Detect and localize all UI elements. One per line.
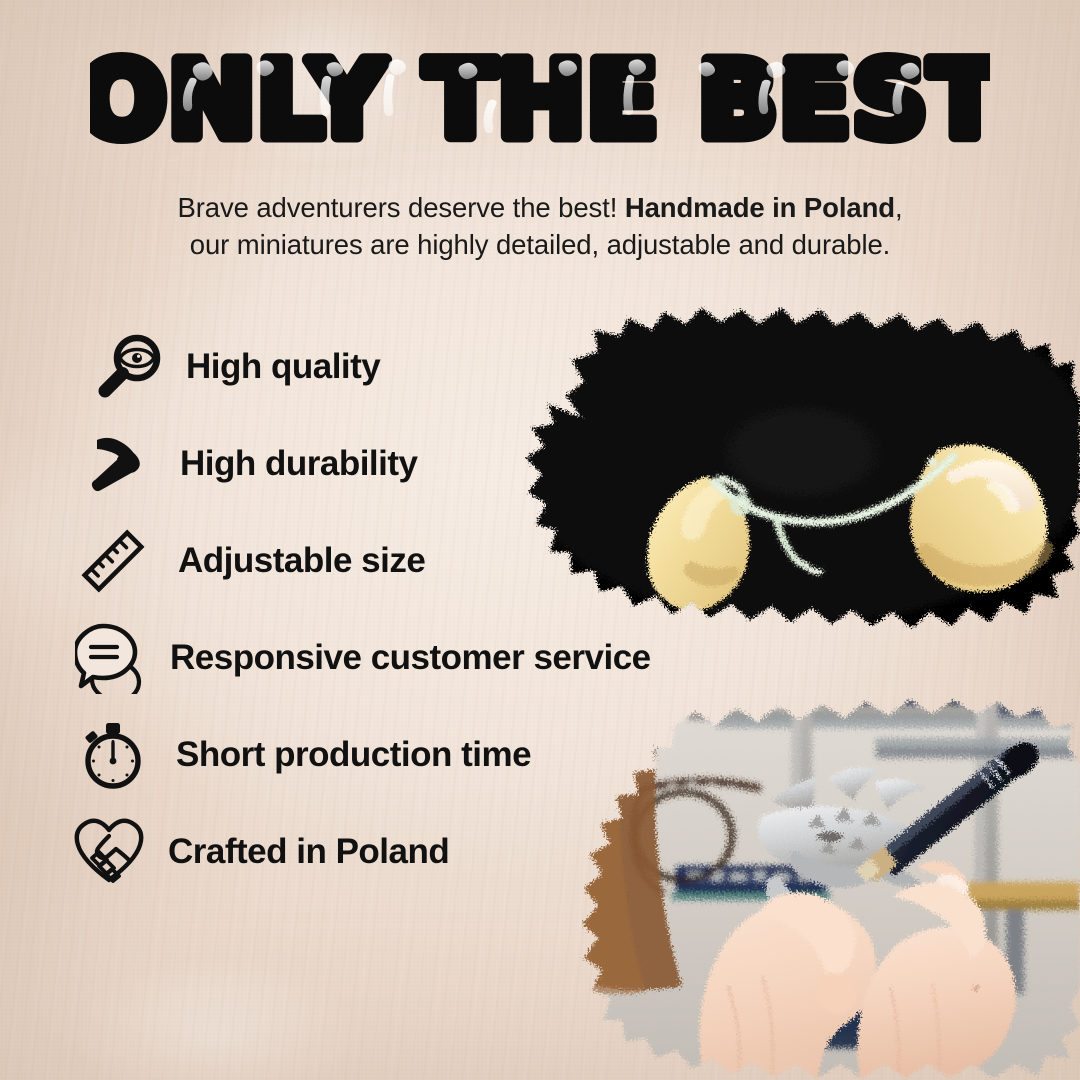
page-title: ONLY THE BEST bbox=[0, 36, 1080, 166]
subtitle-line1-lead: Brave adventurers deserve the best! bbox=[177, 192, 624, 223]
magnifier-eye-icon bbox=[88, 324, 174, 410]
feature-label: Adjustable size bbox=[178, 541, 425, 581]
feature-label: Short production time bbox=[176, 735, 531, 775]
feature-label: Crafted in Poland bbox=[168, 832, 449, 872]
feature-label: High quality bbox=[186, 347, 380, 387]
subtitle: Brave adventurers deserve the best! Hand… bbox=[60, 190, 1020, 264]
feature-item-high-quality: High quality bbox=[88, 318, 792, 415]
stopwatch-icon bbox=[70, 712, 156, 798]
hammer-icon bbox=[72, 421, 158, 507]
ruler-icon bbox=[70, 518, 156, 604]
promo-poster: ONLY THE BEST bbox=[0, 0, 1080, 1080]
headline-text: ONLY THE BEST bbox=[90, 39, 990, 161]
subtitle-line2: our miniatures are highly detailed, adju… bbox=[190, 229, 890, 260]
feature-list: High quality High durability bbox=[62, 318, 792, 900]
speech-bubbles-icon bbox=[68, 615, 154, 701]
heart-handshake-icon bbox=[66, 809, 152, 895]
feature-label: High durability bbox=[180, 444, 418, 484]
headline-letters: ONLY THE BEST bbox=[90, 39, 990, 161]
feature-item-customer-service: Responsive customer service bbox=[68, 609, 792, 706]
feature-item-crafted-in-poland: Crafted in Poland bbox=[66, 803, 792, 900]
feature-item-high-durability: High durability bbox=[72, 415, 792, 512]
feature-label: Responsive customer service bbox=[170, 638, 651, 678]
subtitle-line1-bold: Handmade in Poland bbox=[625, 192, 895, 223]
subtitle-line1-tail: , bbox=[895, 192, 903, 223]
feature-item-production-time: Short production time bbox=[70, 706, 792, 803]
feature-item-adjustable-size: Adjustable size bbox=[70, 512, 792, 609]
